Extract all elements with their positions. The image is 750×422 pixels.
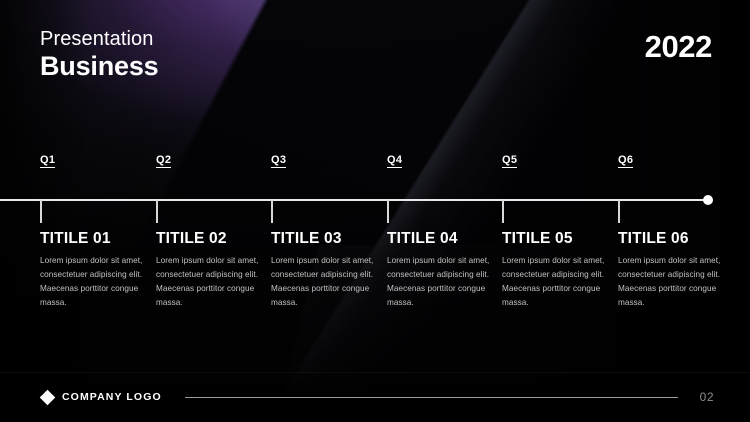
slide-footer: COMPANY LOGO 02 [0,372,750,422]
timeline-column-1[interactable]: Q1 TITILE 01 Lorem ipsum dolor sit amet,… [40,150,152,168]
company-logo-label: COMPANY LOGO [62,391,162,403]
column-body-6: Lorem ipsum dolor sit amet, consectetuer… [618,254,721,310]
page-title-bold: Business [40,51,158,81]
footer-divider [0,372,750,373]
timeline-tick-1 [40,200,42,223]
timeline-tick-3 [271,200,273,223]
timeline-tick-6 [618,200,620,223]
timeline-column-4[interactable]: Q4 TITILE 04 Lorem ipsum dolor sit amet,… [387,150,499,168]
quarter-label-q5: Q5 [502,154,517,168]
column-body-5: Lorem ipsum dolor sit amet, consectetuer… [502,254,605,310]
timeline-axis [0,199,708,201]
timeline-column-3[interactable]: Q3 TITILE 03 Lorem ipsum dolor sit amet,… [271,150,383,168]
column-title-6: TITILE 06 [618,230,689,248]
timeline-column-6[interactable]: Q6 TITILE 06 Lorem ipsum dolor sit amet,… [618,150,730,168]
timeline-column-5[interactable]: Q5 TITILE 05 Lorem ipsum dolor sit amet,… [502,150,614,168]
timeline-tick-2 [156,200,158,223]
timeline: Q1 TITILE 01 Lorem ipsum dolor sit amet,… [0,150,750,340]
quarter-label-q2: Q2 [156,154,171,168]
timeline-tick-5 [502,200,504,223]
column-title-3: TITILE 03 [271,230,342,248]
column-title-1: TITILE 01 [40,230,111,248]
presentation-slide: Presentation Business 2022 Q1 TITILE 01 … [0,0,750,422]
quarter-label-q1: Q1 [40,154,55,168]
quarter-label-q3: Q3 [271,154,286,168]
diamond-logo-icon [40,389,56,405]
column-body-4: Lorem ipsum dolor sit amet, consectetuer… [387,254,490,310]
year-label: 2022 [645,29,712,65]
footer-row: COMPANY LOGO 02 [42,390,714,404]
page-title-light: Presentation [40,28,158,52]
column-title-2: TITILE 02 [156,230,227,248]
column-body-3: Lorem ipsum dolor sit amet, consectetuer… [271,254,374,310]
timeline-tick-4 [387,200,389,223]
quarter-label-q6: Q6 [618,154,633,168]
quarter-label-q4: Q4 [387,154,402,168]
column-body-2: Lorem ipsum dolor sit amet, consectetuer… [156,254,259,310]
column-title-5: TITILE 05 [502,230,573,248]
slide-header: Presentation Business [40,28,158,81]
footer-rule [185,397,678,398]
column-title-4: TITILE 04 [387,230,458,248]
timeline-end-dot [703,195,713,205]
page-number: 02 [700,390,714,404]
column-body-1: Lorem ipsum dolor sit amet, consectetuer… [40,254,143,310]
timeline-column-2[interactable]: Q2 TITILE 02 Lorem ipsum dolor sit amet,… [156,150,268,168]
